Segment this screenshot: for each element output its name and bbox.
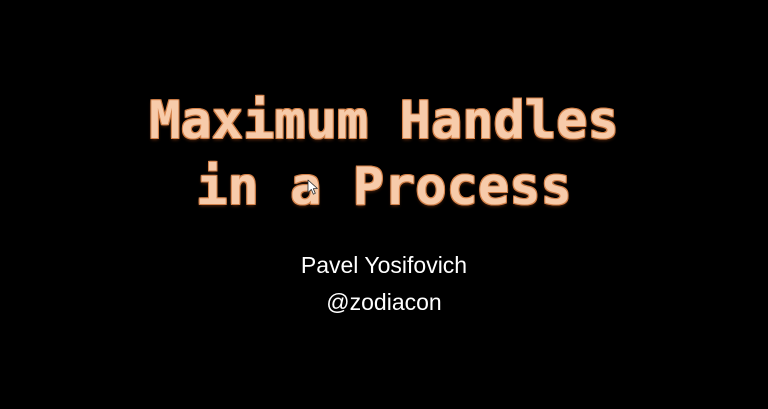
- presenter-handle: @zodiacon: [0, 284, 768, 321]
- slide-title: Maximum Handles in a Process: [0, 88, 768, 220]
- presentation-slide: Maximum Handles in a Process Pavel Yosif…: [0, 0, 768, 409]
- slide-subtitle: Pavel Yosifovich @zodiacon: [0, 247, 768, 321]
- presenter-name: Pavel Yosifovich: [0, 247, 768, 284]
- title-line-1: Maximum Handles: [0, 88, 768, 154]
- title-line-2: in a Process: [0, 154, 768, 220]
